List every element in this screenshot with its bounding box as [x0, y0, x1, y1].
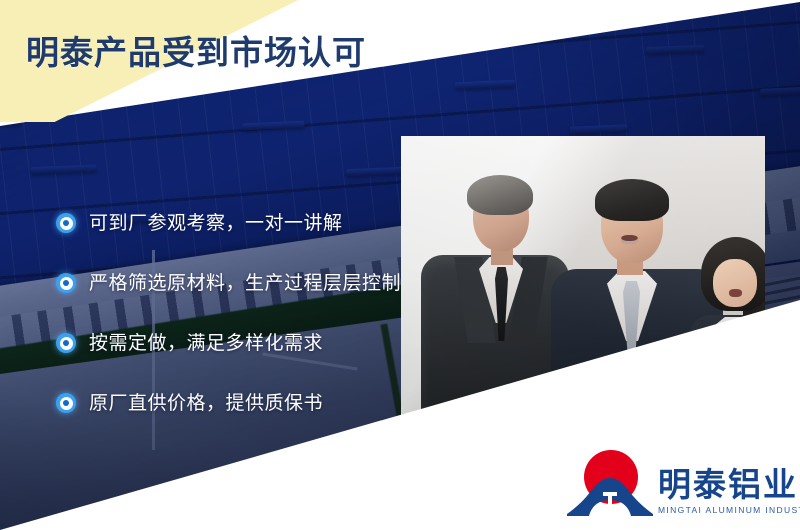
- logo-text: 明泰铝业 MINGTAI ALUMINUM INDUSTRY CO., LTD: [658, 468, 800, 516]
- feature-list: 可到厂参观考察，一对一讲解 严格筛选原材料，生产过程层层控制 按需定做，满足多样…: [56, 208, 401, 418]
- target-dot-icon: [56, 333, 76, 353]
- list-item: 严格筛选原材料，生产过程层层控制: [56, 268, 401, 298]
- target-dot-icon: [56, 213, 76, 233]
- blue-mountain-shape: [567, 476, 653, 516]
- list-item-label: 可到厂参观考察，一对一讲解: [89, 214, 343, 233]
- list-item-label: 严格筛选原材料，生产过程层层控制: [89, 274, 401, 293]
- company-logo: 明泰铝业 MINGTAI ALUMINUM INDUSTRY CO., LTD: [567, 450, 800, 516]
- logo-chinese-name: 明泰铝业: [658, 468, 800, 501]
- target-dot-icon: [56, 273, 76, 293]
- logo-english-name: MINGTAI ALUMINUM INDUSTRY CO., LTD: [658, 505, 800, 515]
- marketing-banner: 明泰产品受到市场认可 可到厂参观考察，一对一讲解 严格筛选原材料，生产过程层层控…: [0, 0, 800, 530]
- list-item-label: 原厂直供价格，提供质保书: [89, 394, 323, 413]
- mingtai-sun-mountain-logo: [567, 450, 653, 516]
- list-item: 按需定做，满足多样化需求: [56, 328, 401, 358]
- target-dot-icon: [56, 393, 76, 413]
- list-item: 可到厂参观考察，一对一讲解: [56, 208, 401, 238]
- page-title: 明泰产品受到市场认可: [26, 26, 366, 74]
- list-item: 原厂直供价格，提供质保书: [56, 388, 401, 418]
- list-item-label: 按需定做，满足多样化需求: [89, 334, 323, 353]
